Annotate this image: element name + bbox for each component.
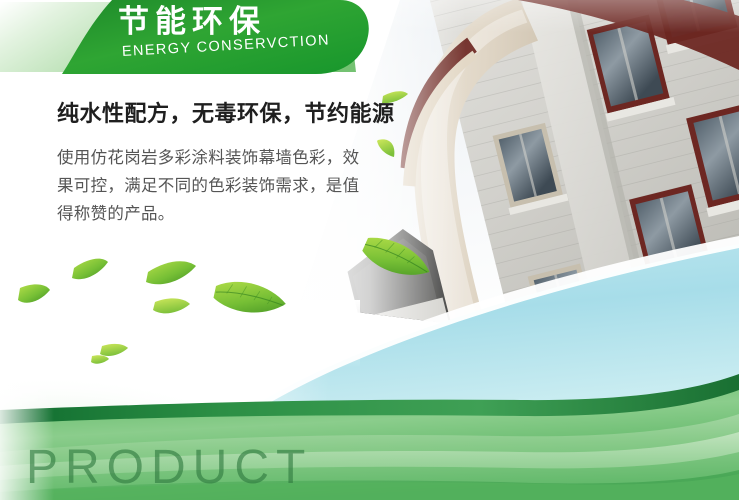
page-title: 纯水性配方，无毒环保，节约能源 [57,96,395,128]
body-paragraph: 使用仿花岗岩多彩涂料装饰幕墙色彩，效果可控，满足不同的色彩装饰需求，是值得称赞的… [57,144,375,228]
promo-poster: 节能环保 ENERGY CONSERVCTION [0,0,739,500]
product-watermark: PRODUCT [26,440,312,495]
floating-leaves [0,0,739,500]
